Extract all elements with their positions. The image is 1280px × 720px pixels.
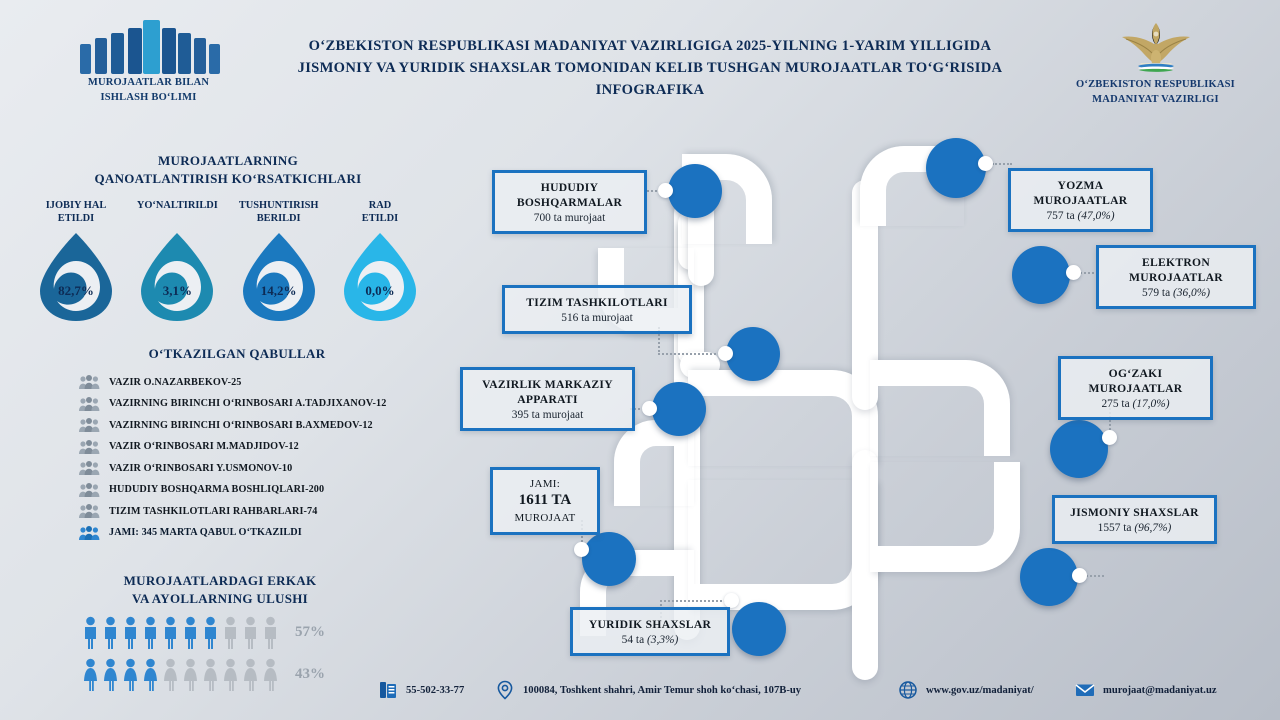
- envelope-icon: [1075, 680, 1095, 700]
- ministry-logo-line2: MADANIYAT VAZIRLIGI: [1053, 93, 1258, 106]
- flow-box-title-line2: BOSHQARMALAR: [505, 195, 634, 210]
- flow-box-ogzaki[interactable]: OG‘ZAKI MUROJAATLAR 275 ta (17,0%): [1058, 356, 1213, 420]
- label-line1: TUSHUNTIRISH: [233, 199, 325, 212]
- flow-box-title-line1: YURIDIK SHAXSLAR: [583, 617, 717, 632]
- male-figure-icon: [162, 616, 179, 649]
- flow-box-title-line1: YOZMA: [1021, 178, 1140, 193]
- flow-box-title-line1: ELEKTRON: [1109, 255, 1243, 270]
- connector-dash-tizim: [658, 353, 720, 355]
- footer-website[interactable]: www.gov.uz/madaniyat/: [898, 680, 1034, 700]
- node-yuridik[interactable]: [732, 602, 786, 656]
- location-pin-icon: [495, 680, 515, 700]
- flow-box-sub-elektron: 579 ta (36,0%): [1109, 287, 1243, 299]
- footer: 55-502-33-77 100084, Toshkent shahri, Am…: [0, 672, 1280, 712]
- footer-phone: 55-502-33-77: [378, 680, 464, 700]
- flow-box-sub-percent: (96,7%): [1134, 522, 1171, 534]
- satisfaction-label-ijobiy: IJOBIY HAL ETILDI: [30, 199, 122, 225]
- droplet-shape-ijobiy: 82,7%: [32, 231, 120, 323]
- branch-corner-right-upper: [688, 370, 878, 466]
- satisfaction-value-ijobiy: 82,7%: [32, 283, 120, 299]
- branch-corner-ogzaki: [870, 360, 1010, 456]
- flow-box-sub-count: 579 ta: [1142, 287, 1173, 299]
- connector-dash-yuridik: [660, 600, 726, 602]
- node-jami[interactable]: [582, 532, 636, 586]
- connector-dot-yozma: [978, 156, 993, 171]
- people-icon: [78, 504, 100, 518]
- flow-box-sub-count: 275 ta: [1101, 398, 1132, 410]
- flow-box-hududiy[interactable]: HUDUDIY BOSHQARMALAR 700 ta murojaat: [492, 170, 647, 234]
- satisfaction-droplets: IJOBIY HAL ETILDI 82,7% YO‘NALTIRILDI: [18, 199, 438, 323]
- flow-box-title-line2: MUROJAATLAR: [1109, 270, 1243, 285]
- list-item: HUDUDIY BOSHQARMA BOSHLIQLARI-200: [22, 479, 452, 501]
- reception-label: HUDUDIY BOSHQARMA BOSHLIQLARI-200: [109, 484, 324, 495]
- flow-box-sub: 700 ta murojaat: [505, 212, 634, 224]
- node-jismoniy[interactable]: [1020, 548, 1078, 606]
- flow-box-sub-count: 1557 ta: [1098, 522, 1135, 534]
- male-figure-icon: [142, 616, 159, 649]
- node-yozma[interactable]: [926, 138, 986, 198]
- male-figure-icon: [182, 616, 199, 649]
- connector-dot-ogzaki: [1102, 430, 1117, 445]
- globe-icon: [898, 680, 918, 700]
- satisfaction-value-tushuntirish: 14,2%: [235, 283, 323, 299]
- flow-box-sub-ogzaki: 275 ta (17,0%): [1071, 398, 1200, 410]
- connector-dot-tizim: [718, 346, 733, 361]
- flow-box-tizim[interactable]: TIZIM TASHKILOTLARI 516 ta murojaat: [502, 285, 692, 334]
- node-elektron[interactable]: [1012, 246, 1070, 304]
- label-line2: ETILDI: [30, 212, 122, 225]
- flow-box-title-line2: APPARATI: [473, 392, 622, 407]
- droplet-shape-rad: 0,0%: [336, 231, 424, 323]
- flow-box-title-line2: MUROJAATLAR: [1021, 193, 1140, 208]
- receptions-title: O‘TKAZILGAN QABULLAR: [22, 345, 452, 363]
- department-logo-line1: MUROJAATLAR BILAN: [46, 76, 251, 89]
- gender-title-line2: VA AYOLLARNING ULUSHI: [20, 590, 420, 608]
- male-figure-icon: [122, 616, 139, 649]
- people-icon: [78, 461, 100, 475]
- footer-website-text: www.gov.uz/madaniyat/: [926, 685, 1034, 696]
- male-figure-icon-muted: [262, 616, 279, 649]
- gender-title-line1: MUROJAATLARDAGI ERKAK: [20, 572, 420, 590]
- connector-dot-yuridik: [724, 593, 739, 608]
- footer-address-text: 100084, Toshkent shahri, Amir Temur shoh…: [523, 685, 801, 696]
- male-figure-icon: [82, 616, 99, 649]
- page-title-line3: INFOGRAFIKA: [270, 80, 1030, 102]
- flow-box-yozma[interactable]: YOZMA MUROJAATLAR 757 ta (47,0%): [1008, 168, 1153, 232]
- list-item: VAZIR O.NAZARBEKOV-25: [22, 372, 452, 394]
- connector-dot-jami: [574, 542, 589, 557]
- connector-dot-jismoniy: [1072, 568, 1087, 583]
- satisfaction-label-tushuntirish: TUSHUNTIRISH BERILDI: [233, 199, 325, 225]
- flow-box-sub: 516 ta murojaat: [515, 312, 679, 324]
- flow-box-sub-yozma: 757 ta (47,0%): [1021, 210, 1140, 222]
- flow-box-sub-percent: (17,0%): [1133, 398, 1170, 410]
- people-icon: [78, 526, 100, 540]
- label-line1: RAD: [334, 199, 426, 212]
- footer-email[interactable]: murojaat@madaniyat.uz: [1075, 680, 1217, 700]
- male-figure-icon: [102, 616, 119, 649]
- phone-icon: [378, 680, 398, 700]
- receptions-list: VAZIR O.NAZARBEKOV-25 VAZIRNING BIRINCHI…: [22, 372, 452, 544]
- satisfaction-label-yonaltirildi: YO‘NALTIRILDI: [131, 199, 223, 225]
- satisfaction-title-line1: MUROJAATLARNING: [18, 152, 438, 170]
- flow-box-sub-percent: (47,0%): [1078, 210, 1115, 222]
- gender-title: MUROJAATLARDAGI ERKAK VA AYOLLARNING ULU…: [20, 572, 420, 607]
- satisfaction-item-tushuntirish: TUSHUNTIRISH BERILDI 14,2%: [233, 199, 325, 323]
- flow-box-sub-percent: (36,0%): [1173, 287, 1210, 299]
- reception-label: VAZIR O.NAZARBEKOV-25: [109, 377, 241, 388]
- label-line1: YO‘NALTIRILDI: [131, 199, 223, 212]
- reception-label: VAZIR O‘RINBOSARI Y.USMONOV-10: [109, 463, 292, 474]
- flow-box-title-line1: JAMI:: [503, 477, 587, 491]
- flow-box-title-line2: MUROJAAT: [503, 511, 587, 525]
- header: MUROJAATLAR BILAN ISHLASH BO‘LIMI O‘ZBEK…: [0, 0, 1280, 128]
- list-item: VAZIR O‘RINBOSARI M.MADJIDOV-12: [22, 436, 452, 458]
- uzbekistan-emblem-icon: [1110, 14, 1202, 76]
- gender-row-male: 57%: [20, 616, 420, 649]
- reception-label: VAZIRNING BIRINCHI O‘RINBOSARI B.AXMEDOV…: [109, 420, 373, 431]
- ministry-logo-line1: O‘ZBEKISTON RESPUBLIKASI: [1053, 78, 1258, 91]
- footer-phone-text: 55-502-33-77: [406, 685, 464, 696]
- flow-box-vazirlik[interactable]: VAZIRLIK MARKAZIY APPARATI 395 ta muroja…: [460, 367, 635, 431]
- male-figure-icon: [202, 616, 219, 649]
- flow-box-sub-count: 54 ta: [622, 634, 647, 646]
- male-figure-icon-muted: [222, 616, 239, 649]
- male-figure-icon-muted: [242, 616, 259, 649]
- reception-label: VAZIRNING BIRINCHI O‘RINBOSARI A.TADJIXA…: [109, 398, 386, 409]
- list-item: VAZIRNING BIRINCHI O‘RINBOSARI A.TADJIXA…: [22, 393, 452, 415]
- reception-label: VAZIR O‘RINBOSARI M.MADJIDOV-12: [109, 441, 299, 452]
- flow-box-sub-percent: (3,3%): [647, 634, 678, 646]
- flow-box-sub-jismoniy: 1557 ta (96,7%): [1065, 522, 1204, 534]
- connector-dash-yozma: [992, 163, 1012, 165]
- flow-diagram: HUDUDIY BOSHQARMALAR 700 ta murojaat TIZ…: [430, 120, 1280, 680]
- list-item-total: JAMI: 345 MARTA QABUL O‘TKAZILDI: [22, 522, 452, 544]
- flow-box-total-value: 1611 TA: [503, 491, 587, 511]
- droplet-shape-yonaltirildi: 3,1%: [133, 231, 221, 323]
- branch-corner-right-lower: [688, 480, 878, 610]
- page-title-line1: O‘ZBEKISTON RESPUBLIKASI MADANIYAT VAZIR…: [270, 36, 1030, 58]
- people-icon: [78, 418, 100, 432]
- connector-dash-jismoniy: [1086, 575, 1104, 577]
- node-tizim[interactable]: [726, 327, 780, 381]
- page-title-line2: JISMONIY VA YURIDIK SHAXSLAR TOMONIDAN K…: [270, 58, 1030, 80]
- satisfaction-value-rad: 0,0%: [336, 283, 424, 299]
- flow-box-title-line1: OG‘ZAKI: [1071, 366, 1200, 381]
- flow-box-title-line2: MUROJAATLAR: [1071, 381, 1200, 396]
- footer-email-text: murojaat@madaniyat.uz: [1103, 685, 1217, 696]
- connector-dot-elektron: [1066, 265, 1081, 280]
- list-item: VAZIRNING BIRINCHI O‘RINBOSARI B.AXMEDOV…: [22, 415, 452, 437]
- satisfaction-value-yonaltirildi: 3,1%: [133, 283, 221, 299]
- flow-box-yuridik[interactable]: YURIDIK SHAXSLAR 54 ta (3,3%): [570, 607, 730, 656]
- label-line2: ETILDI: [334, 212, 426, 225]
- list-item: TIZIM TASHKILOTLARI RAHBARLARI-74: [22, 501, 452, 523]
- satisfaction-section: MUROJAATLARNING QANOATLANTIRISH KO‘RSATK…: [18, 152, 438, 323]
- footer-address: 100084, Toshkent shahri, Amir Temur shoh…: [495, 680, 801, 700]
- node-ogzaki[interactable]: [1050, 420, 1108, 478]
- reception-label: TIZIM TASHKILOTLARI RAHBARLARI-74: [109, 506, 317, 517]
- ministry-logo: O‘ZBEKISTON RESPUBLIKASI MADANIYAT VAZIR…: [1053, 14, 1258, 106]
- people-icon: [78, 483, 100, 497]
- people-icon: [78, 375, 100, 389]
- people-icon: [78, 440, 100, 454]
- flow-box-sub-count: 757 ta: [1046, 210, 1077, 222]
- connector-dot-hududiy: [658, 183, 673, 198]
- flow-box-jami[interactable]: JAMI: 1611 TA MUROJAAT: [490, 467, 600, 535]
- flow-box-title-line1: TIZIM TASHKILOTLARI: [515, 295, 679, 310]
- flow-box-sub: 395 ta murojaat: [473, 409, 622, 421]
- receptions-section: O‘TKAZILGAN QABULLAR VAZIR O.NAZARBEKOV-…: [22, 345, 452, 544]
- infographic-canvas: MUROJAATLAR BILAN ISHLASH BO‘LIMI O‘ZBEK…: [0, 0, 1280, 720]
- flow-box-title-line1: JISMONIY SHAXSLAR: [1065, 505, 1204, 520]
- reception-total-label: JAMI: 345 MARTA QABUL O‘TKAZILDI: [109, 527, 302, 538]
- label-line2: BERILDI: [233, 212, 325, 225]
- droplet-shape-tushuntirish: 14,2%: [235, 231, 323, 323]
- people-icon: [78, 397, 100, 411]
- male-percent: 57%: [295, 624, 325, 641]
- flow-box-sub-yuridik: 54 ta (3,3%): [583, 634, 717, 646]
- satisfaction-title: MUROJAATLARNING QANOATLANTIRISH KO‘RSATK…: [18, 152, 438, 187]
- department-logo-line2: ISHLASH BO‘LIMI: [46, 91, 251, 104]
- label-line1: IJOBIY HAL: [30, 199, 122, 212]
- satisfaction-label-rad: RAD ETILDI: [334, 199, 426, 225]
- page-title: O‘ZBEKISTON RESPUBLIKASI MADANIYAT VAZIR…: [270, 36, 1030, 102]
- branch-corner-jismoniy: [870, 462, 1020, 572]
- flow-box-title-line1: VAZIRLIK MARKAZIY: [473, 377, 622, 392]
- people-group-icon: [74, 16, 224, 74]
- satisfaction-item-rad: RAD ETILDI 0,0%: [334, 199, 426, 323]
- flow-box-jismoniy[interactable]: JISMONIY SHAXSLAR 1557 ta (96,7%): [1052, 495, 1217, 544]
- node-vazirlik[interactable]: [652, 382, 706, 436]
- satisfaction-title-line2: QANOATLANTIRISH KO‘RSATKICHLARI: [18, 170, 438, 188]
- satisfaction-item-ijobiy: IJOBIY HAL ETILDI 82,7%: [30, 199, 122, 323]
- flow-box-elektron[interactable]: ELEKTRON MUROJAATLAR 579 ta (36,0%): [1096, 245, 1256, 309]
- flow-box-title-line1: HUDUDIY: [505, 180, 634, 195]
- department-logo: MUROJAATLAR BILAN ISHLASH BO‘LIMI: [46, 16, 251, 104]
- satisfaction-item-yonaltirildi: YO‘NALTIRILDI 3,1%: [131, 199, 223, 323]
- connector-dot-vazirlik: [642, 401, 657, 416]
- list-item: VAZIR O‘RINBOSARI Y.USMONOV-10: [22, 458, 452, 480]
- node-hududiy[interactable]: [668, 164, 722, 218]
